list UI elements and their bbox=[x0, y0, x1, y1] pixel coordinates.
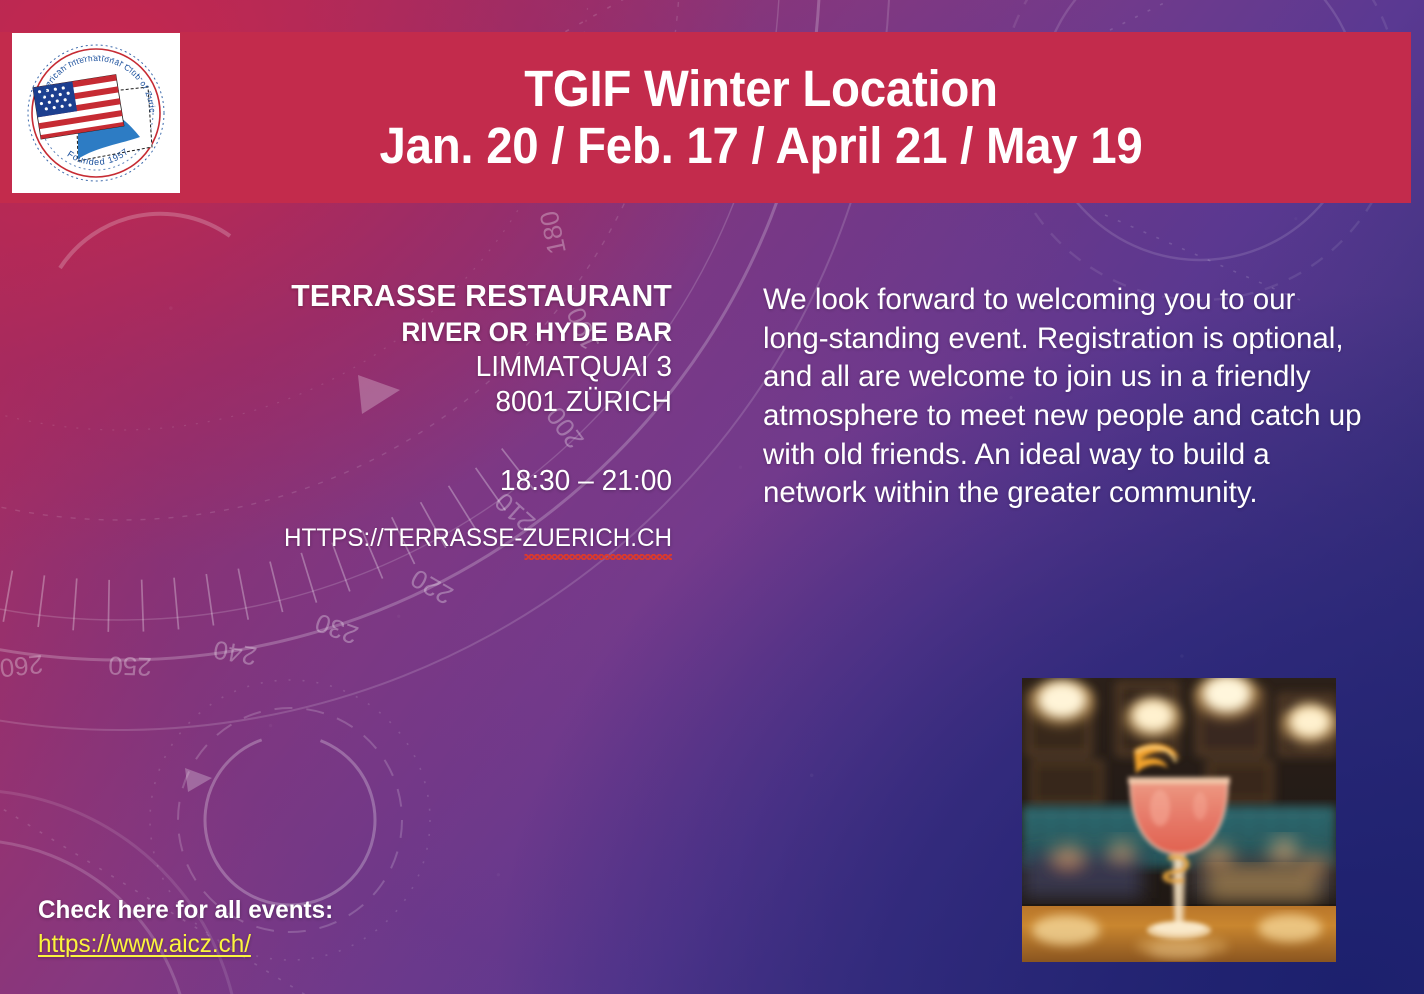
venue-sub-name: RIVER OR HYDE BAR bbox=[234, 315, 672, 350]
venue-time: 18:30 – 21:00 bbox=[234, 465, 672, 498]
aicz-logo: American International Club of Zurich Fo… bbox=[12, 33, 180, 193]
footer-events-link: Check here for all events: https://www.a… bbox=[38, 895, 342, 959]
venue-city: 8001 ZÜRICH bbox=[234, 385, 672, 421]
header-title-line-1: TGIF Winter Location bbox=[380, 61, 1143, 117]
page-title: TGIF Winter Location Jan. 20 / Feb. 17 /… bbox=[268, 61, 1143, 173]
spellcheck-underline bbox=[525, 554, 672, 560]
svg-text:180: 180 bbox=[534, 208, 572, 257]
aicz-website-link[interactable]: https://www.aicz.ch/ bbox=[38, 930, 251, 959]
footer-label: Check here for all events: bbox=[38, 895, 333, 925]
svg-text:220: 220 bbox=[405, 563, 458, 611]
venue-website-text: HTTPS://TERRASSE-ZUERICH.CH bbox=[284, 524, 672, 552]
venue-street: LIMMATQUAI 3 bbox=[234, 350, 672, 386]
header-banner: TGIF Winter Location Jan. 20 / Feb. 17 /… bbox=[0, 32, 1411, 203]
venue-name: TERRASSE RESTAURANT bbox=[234, 278, 672, 315]
header-title-line-2: Jan. 20 / Feb. 17 / April 21 / May 19 bbox=[380, 118, 1143, 174]
venue-address-block: TERRASSE RESTAURANT RIVER OR HYDE BAR LI… bbox=[220, 278, 672, 553]
svg-text:260: 260 bbox=[0, 649, 45, 683]
svg-text:230: 230 bbox=[311, 608, 362, 651]
svg-text:250: 250 bbox=[108, 650, 152, 681]
poster-canvas: 180 190 200 210 220 230 240 250 260 bbox=[0, 0, 1424, 994]
venue-website[interactable]: HTTPS://TERRASSE-ZUERICH.CH bbox=[284, 524, 672, 553]
svg-text:240: 240 bbox=[211, 635, 259, 672]
intro-paragraph: We look forward to welcoming you to our … bbox=[763, 281, 1363, 513]
cocktail-photo bbox=[1022, 678, 1336, 962]
